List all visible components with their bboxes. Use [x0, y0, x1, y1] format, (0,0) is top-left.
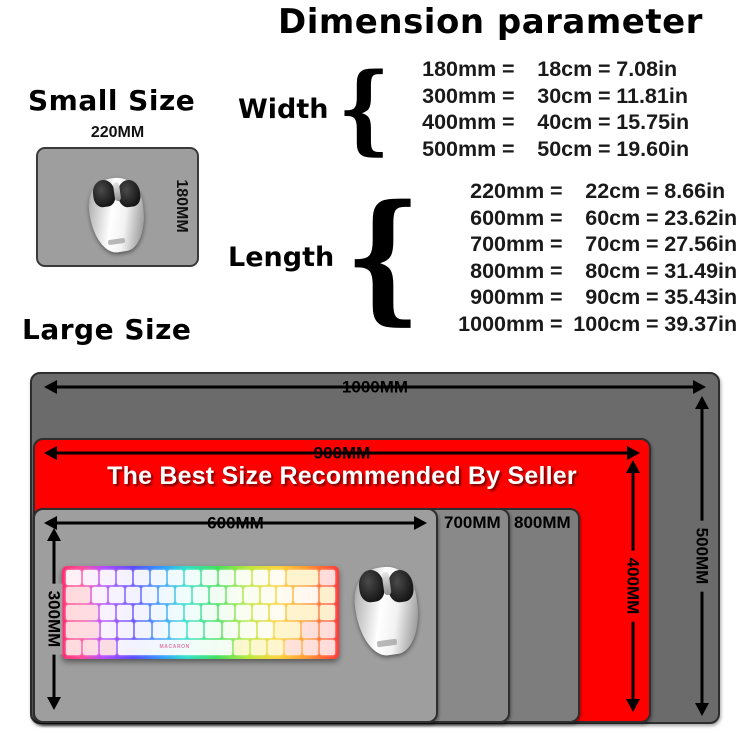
key	[101, 622, 116, 637]
arrow-head-left-icon	[44, 380, 57, 394]
keyboard-row	[66, 605, 335, 620]
key-shift	[66, 622, 99, 637]
key-alt	[100, 640, 115, 655]
arrow-head-up-icon	[47, 528, 61, 541]
key	[142, 587, 157, 602]
key	[134, 605, 149, 620]
key	[126, 587, 141, 602]
key	[270, 605, 285, 620]
label-400mm: 400MM	[625, 551, 642, 622]
key	[320, 622, 335, 637]
key	[170, 622, 185, 637]
arrow-head-right-icon	[627, 446, 640, 460]
key	[176, 587, 191, 602]
mouse-graphic	[90, 178, 144, 252]
key	[159, 587, 174, 602]
arrow-head-left-icon	[44, 446, 57, 460]
key	[294, 587, 318, 602]
key	[320, 587, 335, 602]
key	[92, 587, 107, 602]
key	[236, 570, 251, 585]
key	[253, 605, 268, 620]
key-backspace	[287, 570, 318, 585]
key	[205, 622, 220, 637]
key	[202, 570, 217, 585]
key	[258, 622, 273, 637]
infographic-root: Dimension parameter Width { 180mm = 18cm…	[0, 0, 750, 750]
key	[240, 622, 255, 637]
mouse-right-button-icon	[386, 568, 415, 603]
key	[118, 622, 133, 637]
arrow-head-down-icon	[47, 697, 61, 710]
key	[153, 622, 168, 637]
key	[302, 622, 317, 637]
key	[261, 587, 276, 602]
arrow-head-down-icon	[695, 703, 709, 716]
keyboard-row	[66, 622, 335, 637]
label-300mm: 300MM	[46, 584, 63, 655]
key	[320, 640, 335, 655]
label-700mm: 700MM	[444, 514, 501, 532]
key	[219, 570, 234, 585]
arrow-head-right-icon	[414, 516, 427, 530]
keyboard-logo-label: MACARON	[118, 644, 232, 650]
key	[268, 640, 283, 655]
key-spacebar: MACARON	[118, 640, 232, 655]
key	[253, 570, 268, 585]
key	[193, 587, 208, 602]
key	[223, 622, 238, 637]
label-600mm: 600MM	[200, 515, 271, 532]
key	[168, 605, 183, 620]
keyboard-rows: MACARON	[66, 570, 335, 655]
keyboard-row	[66, 570, 335, 585]
key-win	[83, 640, 98, 655]
dimension-arrow-500mm: 500MM	[694, 396, 710, 716]
dimension-arrow-300mm: 300MM	[46, 528, 62, 710]
key-enter	[287, 605, 319, 620]
label-800mm: 800MM	[514, 514, 571, 532]
arrow-head-right-icon	[693, 380, 706, 394]
key	[185, 570, 200, 585]
key	[285, 640, 300, 655]
key	[277, 587, 292, 602]
key	[100, 605, 115, 620]
key	[234, 640, 249, 655]
arrow-head-up-icon	[695, 396, 709, 409]
key	[100, 570, 115, 585]
key	[168, 570, 183, 585]
key-rshift	[275, 622, 300, 637]
key	[185, 605, 200, 620]
key	[135, 622, 150, 637]
key-capslock	[66, 605, 98, 620]
key	[251, 640, 266, 655]
key	[151, 570, 166, 585]
key	[236, 605, 251, 620]
dimension-arrow-600mm: 600MM	[44, 515, 427, 531]
key	[303, 640, 318, 655]
key-tab	[66, 587, 90, 602]
key	[66, 570, 81, 585]
key	[134, 570, 149, 585]
large-mousepad-diagram: MACARON 1000MM 500MM	[0, 0, 750, 750]
arrow-head-down-icon	[626, 699, 640, 712]
key	[320, 605, 335, 620]
dimension-arrow-400mm: 400MM	[625, 460, 641, 712]
mouse-graphic	[356, 567, 418, 655]
key	[244, 587, 259, 602]
key	[188, 622, 203, 637]
key	[210, 587, 225, 602]
recommended-banner-text: The Best Size Recommended By Seller	[33, 462, 651, 491]
key	[151, 605, 166, 620]
keyboard-graphic: MACARON	[62, 566, 339, 659]
key	[320, 570, 335, 585]
key	[219, 605, 234, 620]
key	[227, 587, 242, 602]
label-500mm: 500MM	[694, 521, 711, 592]
key	[202, 605, 217, 620]
dimension-arrow-900mm: 900MM	[44, 445, 640, 461]
key	[117, 570, 132, 585]
label-1000mm: 1000MM	[335, 379, 415, 396]
keyboard-row: MACARON	[66, 640, 335, 655]
arrow-head-up-icon	[626, 460, 640, 473]
key	[109, 587, 124, 602]
key	[270, 570, 285, 585]
key	[117, 605, 132, 620]
label-900mm: 900MM	[307, 445, 378, 462]
dimension-arrow-1000mm: 1000MM	[44, 379, 706, 395]
key-ctrl	[66, 640, 81, 655]
keyboard-row	[66, 587, 335, 602]
key	[83, 570, 98, 585]
